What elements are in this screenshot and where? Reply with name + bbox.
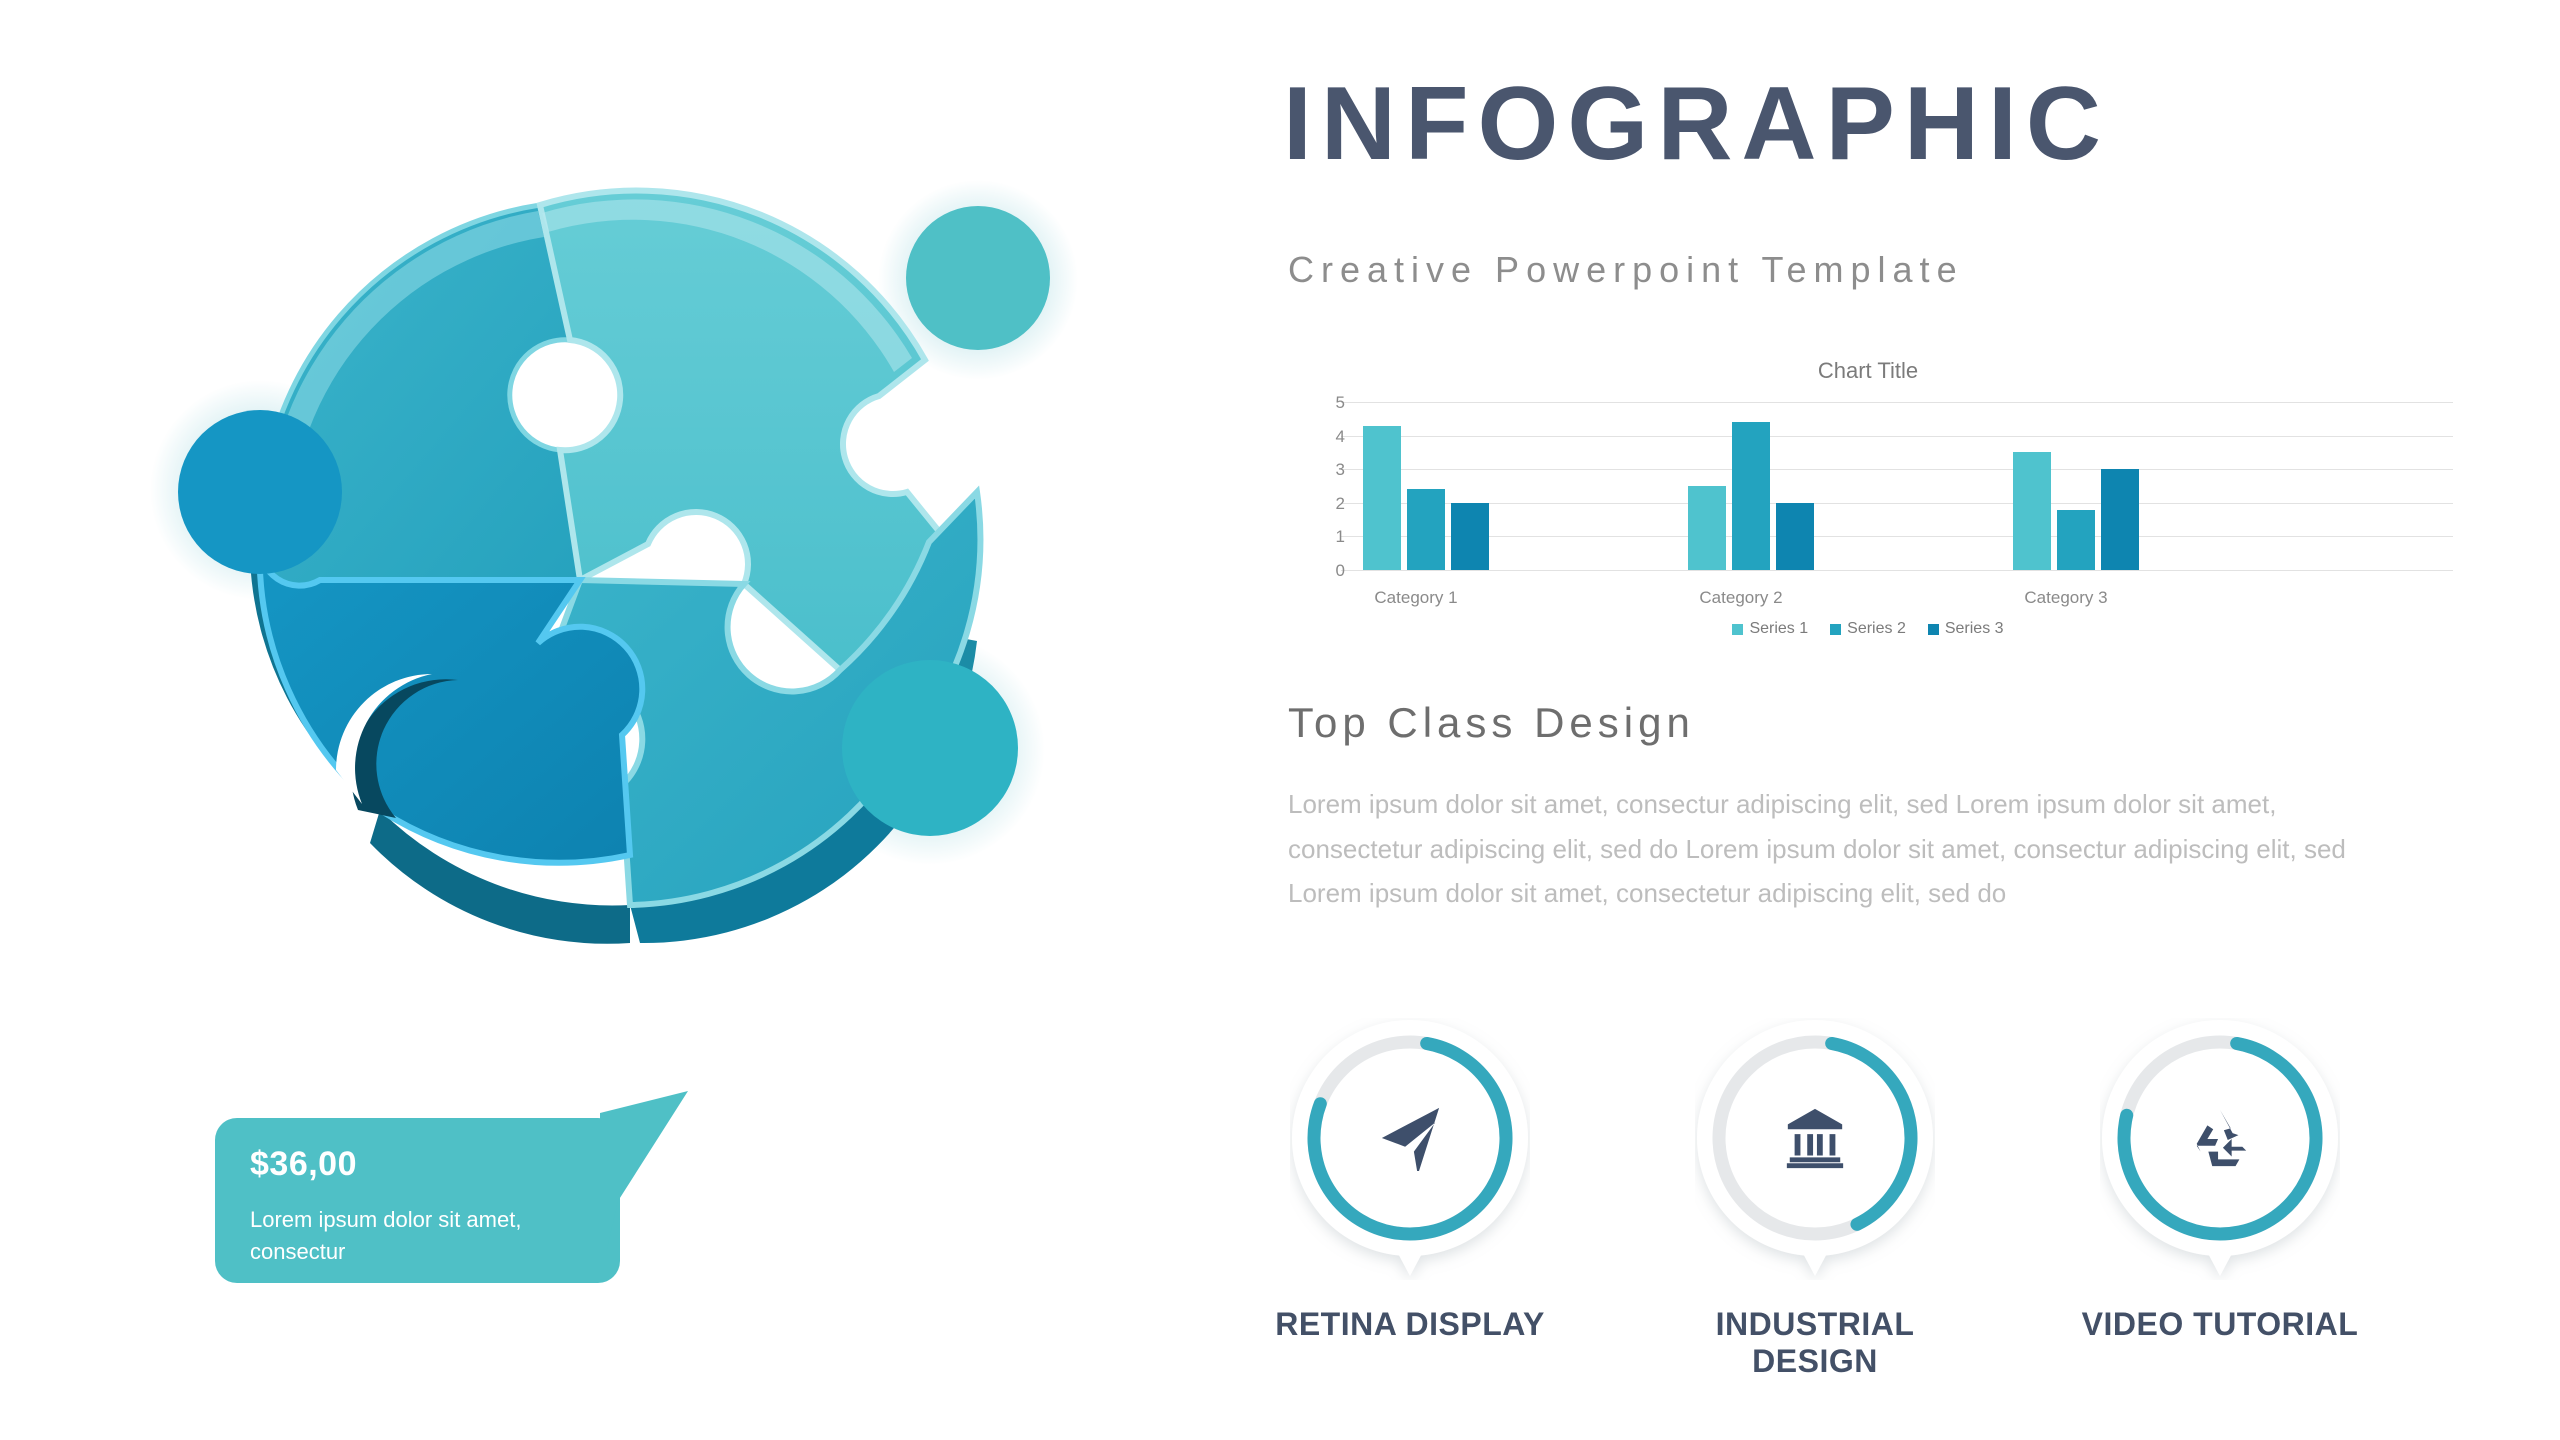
badge-label: RETINA DISPLAY bbox=[1260, 1306, 1560, 1343]
page-title: INFOGRAPHIC bbox=[1283, 72, 2110, 176]
legend-label: Series 3 bbox=[1945, 620, 2004, 638]
legend-swatch bbox=[1928, 624, 1939, 635]
legend-swatch bbox=[1830, 624, 1841, 635]
bar bbox=[1732, 422, 1770, 570]
accent-circle-1 bbox=[906, 206, 1050, 350]
bar bbox=[2101, 469, 2139, 570]
chart-legend: Series 1Series 2Series 3 bbox=[1283, 620, 2453, 638]
bar bbox=[1407, 489, 1445, 570]
bar-group bbox=[2013, 402, 2163, 570]
price-caption: Lorem ipsum dolor sit amet, consectur bbox=[250, 1204, 580, 1268]
legend-item[interactable]: Series 3 bbox=[1928, 620, 2004, 638]
chart-bars bbox=[1341, 402, 2453, 570]
section-body: Lorem ipsum dolor sit amet, consectur ad… bbox=[1288, 782, 2398, 916]
infographic-slide: $36,00 Lorem ipsum dolor sit amet, conse… bbox=[0, 0, 2560, 1440]
chart-title: Chart Title bbox=[1283, 358, 2453, 384]
chart-plot-area: 543210 bbox=[1323, 402, 2453, 570]
badge-item[interactable]: RETINA DISPLAY bbox=[1260, 1018, 1560, 1343]
category-label: Category 1 bbox=[1336, 588, 1496, 608]
bar-group bbox=[1363, 402, 1513, 570]
category-label: Category 2 bbox=[1661, 588, 1821, 608]
legend-item[interactable]: Series 2 bbox=[1830, 620, 1906, 638]
bar bbox=[1776, 503, 1814, 570]
badge-label: INDUSTRIAL DESIGN bbox=[1665, 1306, 1965, 1380]
bar bbox=[1363, 426, 1401, 570]
legend-item[interactable]: Series 1 bbox=[1732, 620, 1808, 638]
badge-ring bbox=[2100, 1018, 2340, 1280]
gridline bbox=[1341, 570, 2453, 571]
bar bbox=[1451, 503, 1489, 570]
legend-label: Series 2 bbox=[1847, 620, 1906, 638]
bar-group bbox=[1688, 402, 1838, 570]
badge-item[interactable]: VIDEO TUTORIAL bbox=[2070, 1018, 2370, 1343]
bubble-tail bbox=[600, 1083, 730, 1263]
badge-label: VIDEO TUTORIAL bbox=[2070, 1306, 2370, 1343]
recycle-icon bbox=[2100, 1018, 2340, 1258]
category-label: Category 3 bbox=[1986, 588, 2146, 608]
feature-badges: RETINA DISPLAYINDUSTRIAL DESIGNVIDEO TUT… bbox=[1250, 1018, 2480, 1368]
badge-ring bbox=[1290, 1018, 1530, 1280]
accent-circle-3 bbox=[842, 660, 1018, 836]
accent-circle-2 bbox=[178, 410, 342, 574]
bar-chart: Chart Title 543210 Category 1Category 2C… bbox=[1283, 358, 2453, 638]
legend-swatch bbox=[1732, 624, 1743, 635]
paper-plane-icon bbox=[1290, 1018, 1530, 1258]
chart-category-labels: Category 1Category 2Category 3 bbox=[1341, 588, 2453, 612]
bar bbox=[1688, 486, 1726, 570]
badge-ring bbox=[1695, 1018, 1935, 1280]
badge-item[interactable]: INDUSTRIAL DESIGN bbox=[1665, 1018, 1965, 1380]
bar bbox=[2013, 452, 2051, 570]
bar bbox=[2057, 510, 2095, 570]
legend-label: Series 1 bbox=[1749, 620, 1808, 638]
section-title: Top Class Design bbox=[1288, 702, 1695, 744]
bank-icon bbox=[1695, 1018, 1935, 1258]
puzzle-artwork bbox=[140, 110, 1120, 990]
page-subtitle: Creative Powerpoint Template bbox=[1288, 252, 1964, 288]
price-value: $36,00 bbox=[250, 1145, 357, 1184]
